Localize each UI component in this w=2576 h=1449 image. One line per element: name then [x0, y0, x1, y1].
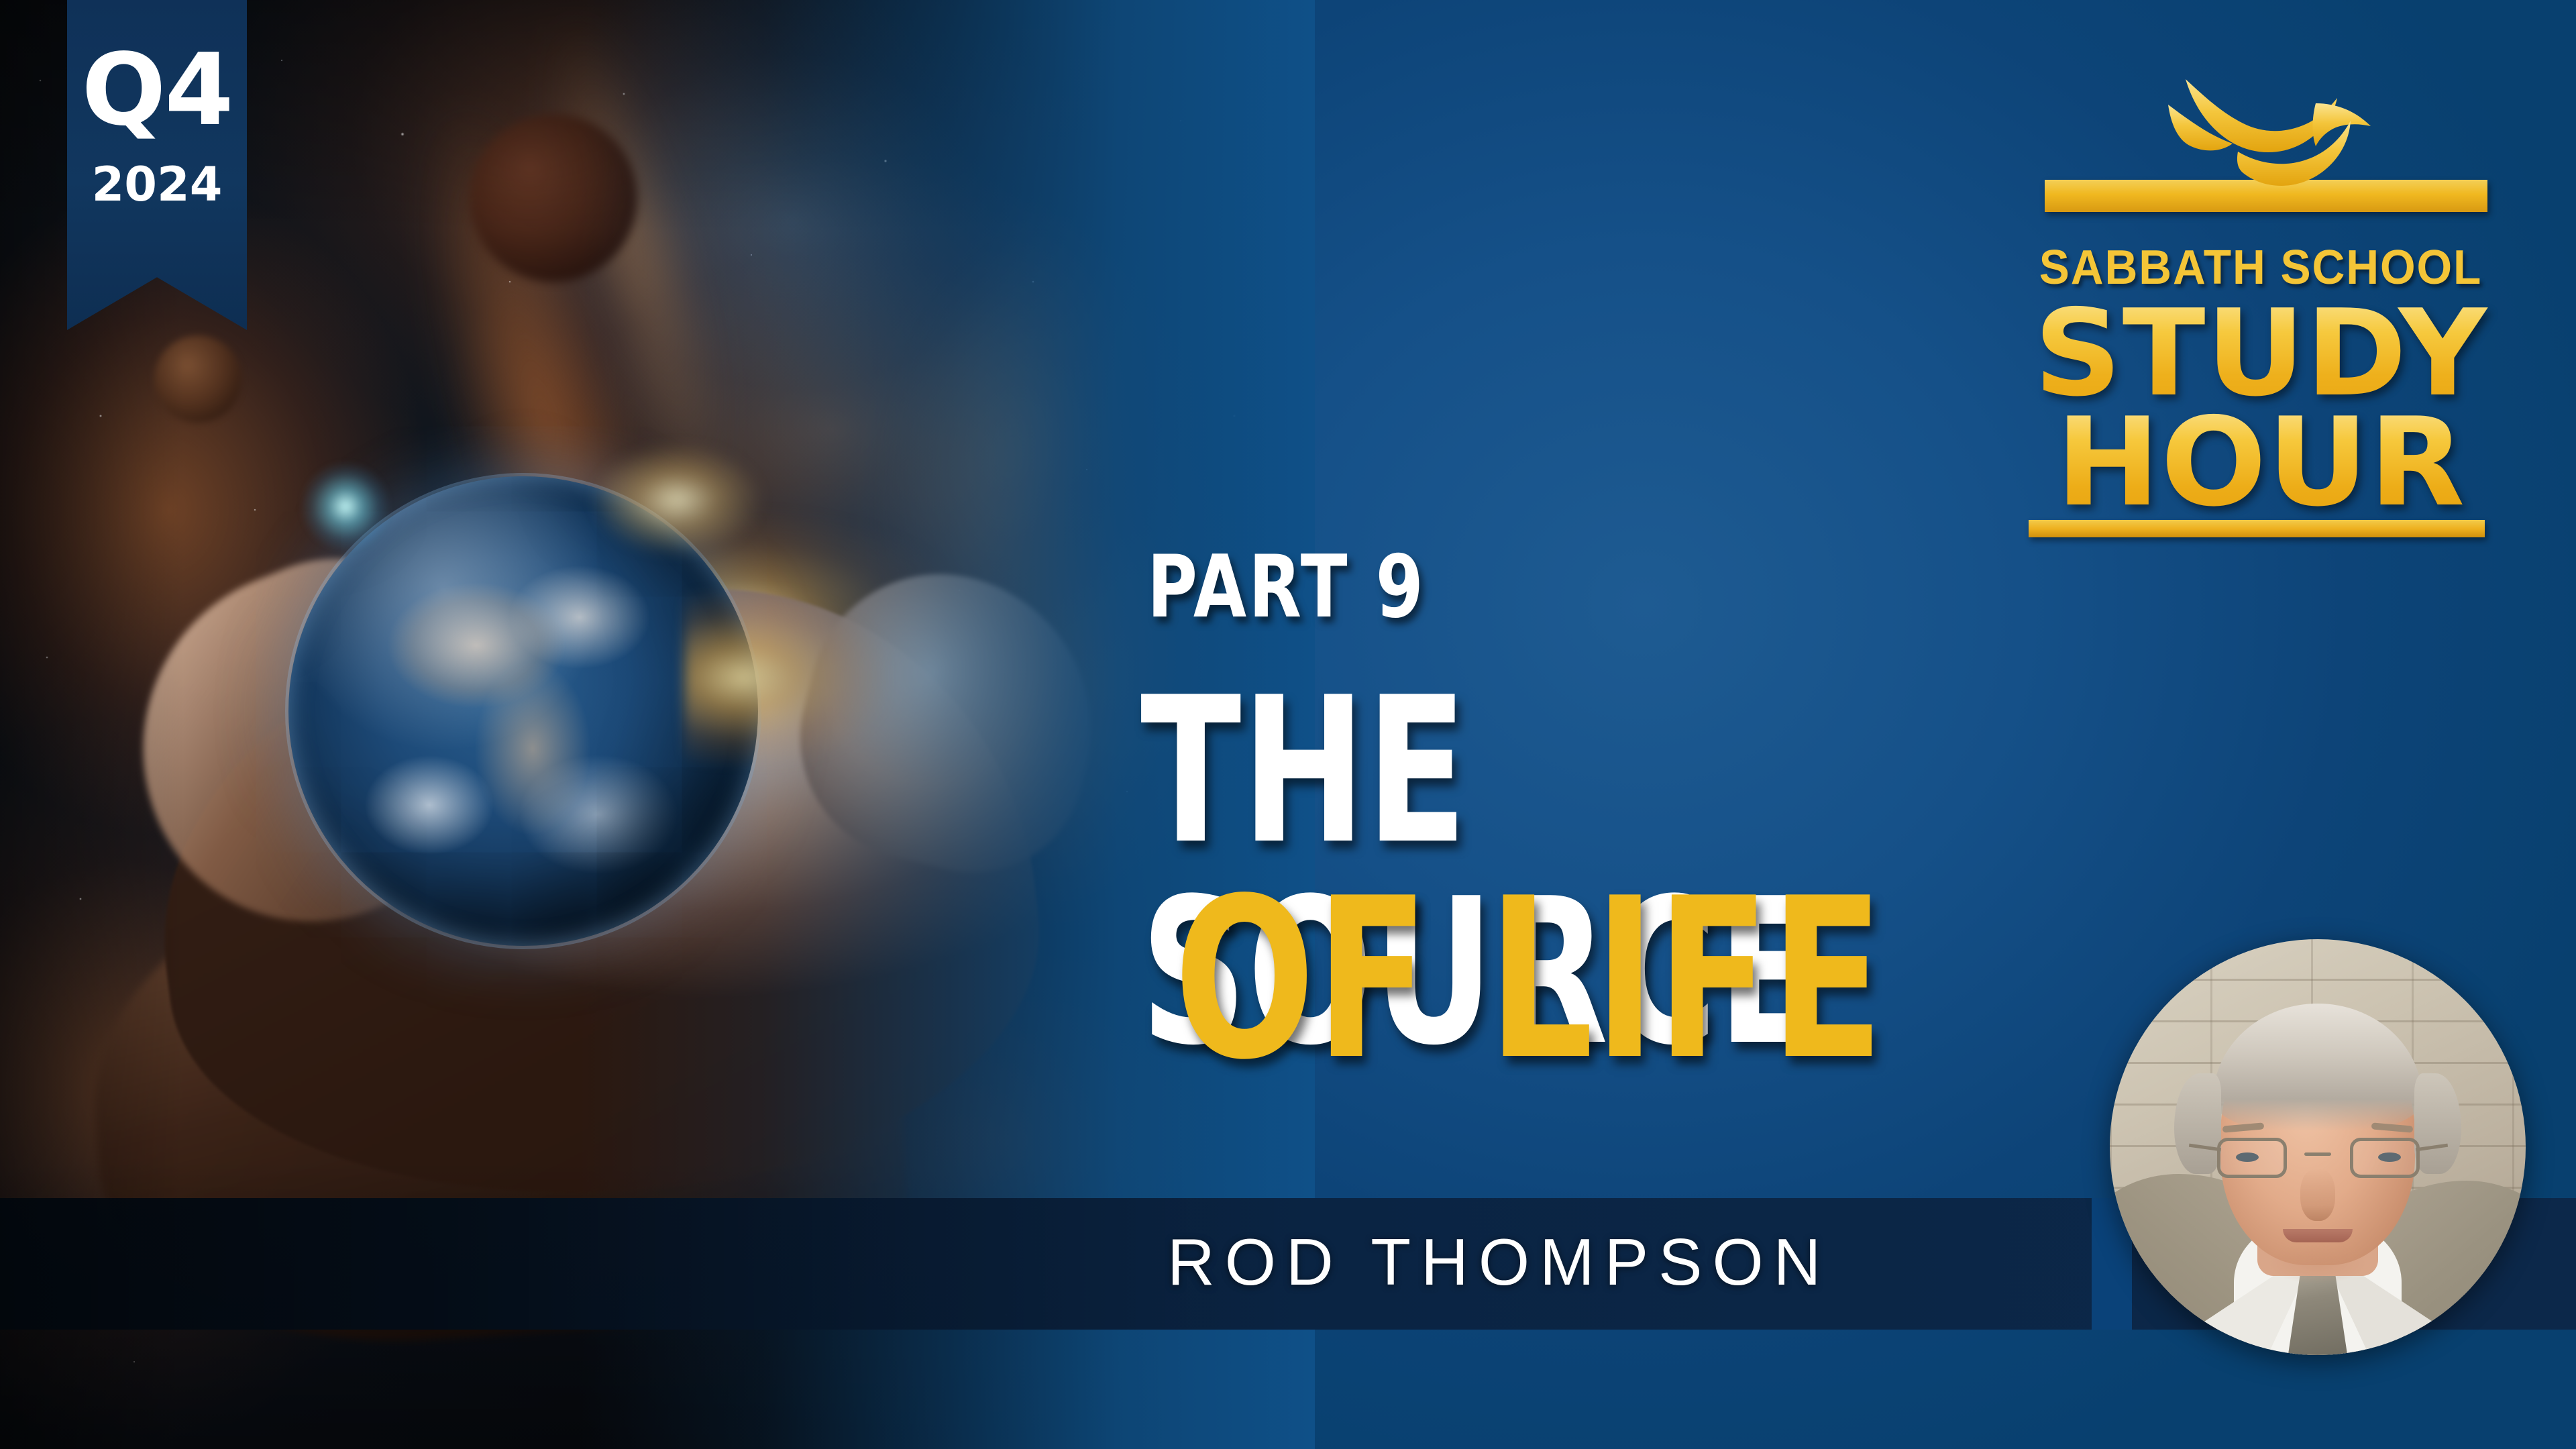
- distant-planet-icon: [470, 114, 637, 282]
- portrait-nose: [2300, 1169, 2335, 1221]
- logo-bottom-bar: [2029, 520, 2485, 537]
- portrait-eyeglass-bridge: [2304, 1152, 2331, 1156]
- part-label: PART 9: [1147, 545, 1426, 631]
- portrait-eyeglass-lens-left: [2217, 1138, 2287, 1178]
- earth-highlight-flare: [302, 463, 389, 550]
- sabbath-school-study-hour-logo: SABBATH SCHOOL STUDY HOUR: [2019, 80, 2502, 550]
- speaker-portrait: [2110, 939, 2526, 1355]
- logo-mark: [2019, 80, 2502, 215]
- title-line-2: OF LIFE: [1174, 869, 1884, 1090]
- earth-sun-flare: [590, 443, 765, 557]
- ribbon-year-label: 2024: [92, 161, 223, 208]
- ribbon-quarter-label: Q4: [82, 40, 233, 140]
- thumbnail-canvas: Q4 2024 SA: [0, 0, 2576, 1449]
- portrait-mouth: [2283, 1229, 2353, 1242]
- portrait-hair-side-left: [2174, 1073, 2221, 1174]
- distant-planet-small-icon: [154, 335, 241, 423]
- portrait-eyeglass-lens-right: [2350, 1138, 2420, 1178]
- portrait-chin: [2267, 1242, 2368, 1284]
- speaker-name: ROD THOMPSON: [1167, 1226, 2106, 1299]
- speaker-name-band-shade: [0, 1198, 1315, 1330]
- sunburst-glow: [684, 590, 885, 765]
- logo-hour-text: HOUR: [2015, 401, 2507, 523]
- dove-icon: [2157, 74, 2379, 208]
